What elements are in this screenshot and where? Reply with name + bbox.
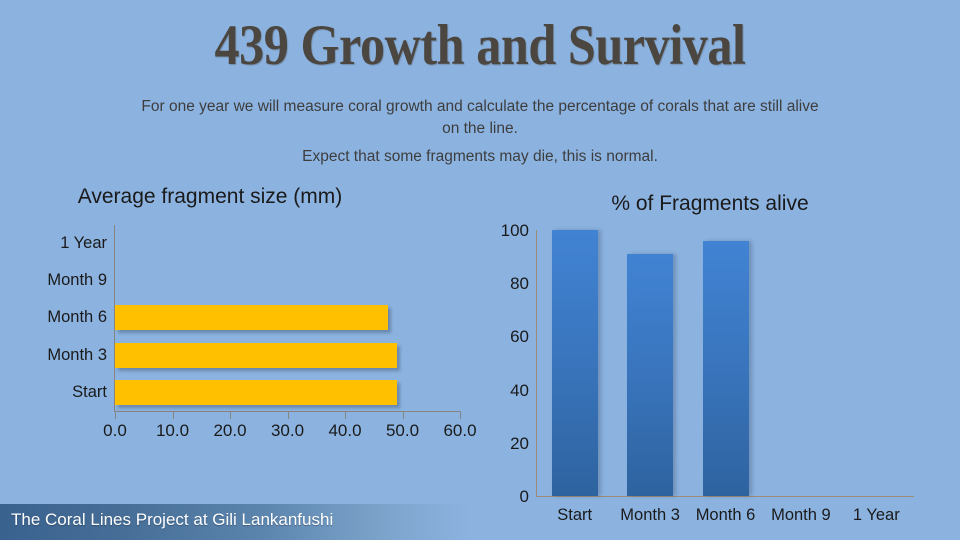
chart-right-y-tick-label: 60 xyxy=(469,328,529,345)
chart-left-x-tick xyxy=(230,411,231,419)
chart-right-y-tick-label: 0 xyxy=(469,488,529,505)
chart-right-bar xyxy=(627,254,673,496)
chart-left-category-label: Month 9 xyxy=(0,262,107,299)
subtitle-line-1: For one year we will measure coral growt… xyxy=(140,96,820,140)
chart-left-category-label: Month 3 xyxy=(0,337,107,374)
chart-right-bar xyxy=(703,241,749,496)
chart-right-bar xyxy=(552,230,598,496)
chart-right-y-tick-label: 40 xyxy=(469,382,529,399)
chart-right-y-tick-label: 100 xyxy=(469,222,529,239)
chart-left-bar-row: Start xyxy=(115,374,460,411)
chart-left-x-tick xyxy=(345,411,346,419)
chart-left-plot-area: StartMonth 3Month 6Month 91 Year0.010.02… xyxy=(115,225,460,411)
chart-right-y-tick-label: 80 xyxy=(469,275,529,292)
chart-left-bar xyxy=(115,380,397,405)
chart-left-bar-row: Month 9 xyxy=(115,262,460,299)
chart-left-title: Average fragment size (mm) xyxy=(10,185,410,209)
chart-left-bar xyxy=(115,343,397,368)
chart-left-category-label: 1 Year xyxy=(0,225,107,262)
chart-left-category-label: Month 6 xyxy=(0,299,107,336)
subtitle-block: For one year we will measure coral growt… xyxy=(140,96,820,168)
chart-left-x-tick xyxy=(173,411,174,419)
chart-left-bar xyxy=(115,305,388,330)
chart-left-bar-row: Month 3 xyxy=(115,337,460,374)
chart-left-x-tick xyxy=(403,411,404,419)
chart-left-x-tick xyxy=(288,411,289,419)
chart-right-y-tick-label: 20 xyxy=(469,435,529,452)
chart-average-fragment-size: Average fragment size (mm) StartMonth 3M… xyxy=(0,185,480,475)
chart-left-bar-row: Month 6 xyxy=(115,299,460,336)
chart-right-category-axis-line xyxy=(536,496,914,497)
chart-right-category-label: 1 Year xyxy=(831,506,921,525)
chart-left-x-tick xyxy=(460,411,461,419)
page-title: 439 Growth and Survival xyxy=(58,14,903,78)
chart-left-x-tick xyxy=(115,411,116,419)
chart-right-title: % of Fragments alive xyxy=(500,192,920,216)
footer-label: The Coral Lines Project at Gili Lankanfu… xyxy=(11,510,333,530)
chart-left-bar-row: 1 Year xyxy=(115,225,460,262)
chart-left-category-label: Start xyxy=(0,374,107,411)
chart-right-value-axis-line xyxy=(536,230,537,496)
subtitle-line-2: Expect that some fragments may die, this… xyxy=(140,146,820,168)
chart-right-plot-area: StartMonth 3Month 6Month 91 Year02040608… xyxy=(537,230,914,496)
chart-percent-fragments-alive: % of Fragments alive StartMonth 3Month 6… xyxy=(480,185,960,540)
